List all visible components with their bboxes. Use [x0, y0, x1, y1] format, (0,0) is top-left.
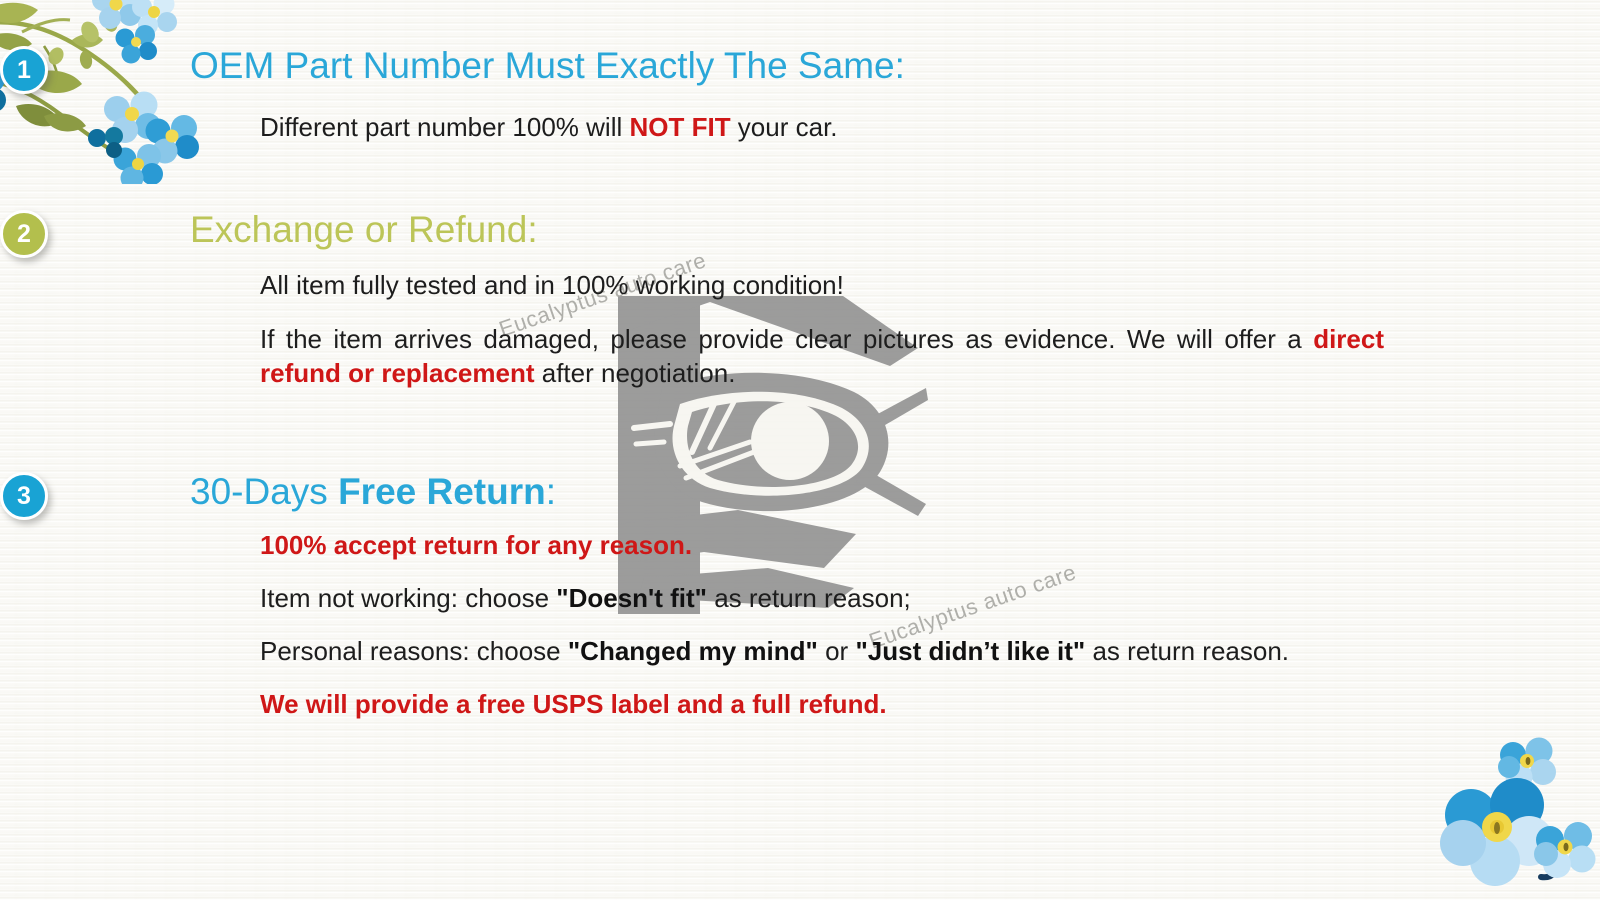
section-3-line-1: 100% accept return for any reason.: [0, 528, 908, 562]
section-3-title: 30-Days Free Return:: [190, 468, 1600, 516]
section-2-line-2: If the item arrives damaged, please prov…: [0, 322, 1600, 390]
s3-l3-changed-my-mind: "Changed my mind": [568, 636, 818, 666]
policy-section-1: 1 OEM Part Number Must Exactly The Same:…: [0, 42, 1600, 98]
section-2-line-1: All item fully tested and in 100% workin…: [0, 268, 1060, 302]
section-3-line-2: Item not working: choose "Doesn't fit" a…: [0, 581, 1127, 615]
policy-section-2: 2 Exchange or Refund: All item fully tes…: [0, 206, 1600, 262]
s3-l2-part-c: as return reason;: [707, 583, 911, 613]
section-1-line-1: Different part number 100% will NOT FIT …: [0, 110, 1054, 144]
s1-l1-part-c: your car.: [731, 112, 838, 142]
s3-title-suffix: :: [546, 471, 556, 512]
step-badge-1: 1: [0, 46, 48, 94]
s3-l2-doesnt-fit: "Doesn't fit": [556, 583, 707, 613]
s3-l3-just-didnt-like-it: "Just didn’t like it": [855, 636, 1085, 666]
section-1-title: OEM Part Number Must Exactly The Same:: [190, 42, 1600, 90]
section-2-paragraph: If the item arrives damaged, please prov…: [0, 322, 1600, 390]
section-3-line-4: We will provide a free USPS label and a …: [0, 687, 1103, 721]
section-3-header: 3 30-Days Free Return:: [0, 468, 1600, 524]
s3-l2-part-a: Item not working: choose: [260, 583, 556, 613]
section-2-title: Exchange or Refund:: [190, 206, 1600, 254]
s3-l3-part-e: as return reason.: [1085, 636, 1289, 666]
s2-l2-part-c: after negotiation.: [535, 358, 736, 388]
step-badge-2: 2: [0, 210, 48, 258]
section-3-line-3: Personal reasons: choose "Changed my min…: [0, 634, 1505, 668]
s3-l3-part-a: Personal reasons: choose: [260, 636, 568, 666]
s3-title-plain: 30-Days: [190, 471, 338, 512]
s3-l3-part-c: or: [818, 636, 856, 666]
s2-l2-part-a: If the item arrives damaged, please prov…: [260, 324, 1313, 354]
section-1-header: 1 OEM Part Number Must Exactly The Same:: [0, 42, 1600, 98]
section-2-header: 2 Exchange or Refund:: [0, 206, 1600, 262]
s3-title-bold: Free Return: [338, 471, 546, 512]
step-badge-3: 3: [0, 472, 48, 520]
s1-l1-not-fit: NOT FIT: [629, 112, 730, 142]
s1-l1-part-a: Different part number 100% will: [260, 112, 629, 142]
policy-section-3: 3 30-Days Free Return: 100% accept retur…: [0, 468, 1600, 524]
